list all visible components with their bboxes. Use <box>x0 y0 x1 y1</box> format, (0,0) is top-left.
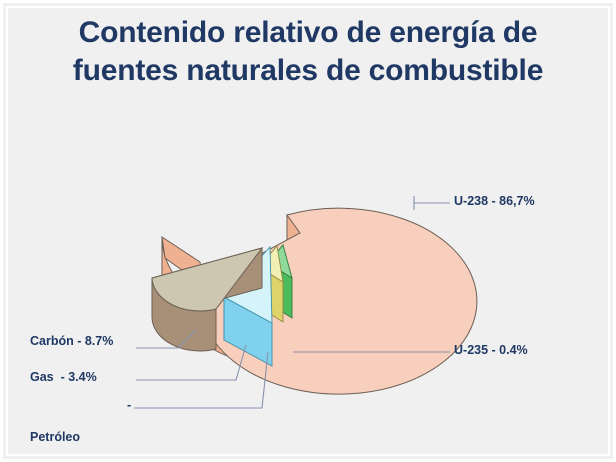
pie-chart-3d <box>0 0 616 462</box>
pie-label-petroleo-dash: - <box>127 397 131 413</box>
pie-label-gas: Gas - 3.4% <box>30 369 97 385</box>
pie-label-petroleo-line-1: Petróleo <box>30 429 80 445</box>
pie-label-u238: U-238 - 86,7% <box>454 193 535 209</box>
leader-line-u238 <box>414 196 450 210</box>
slide-canvas: Contenido relativo de energía de fuentes… <box>0 0 616 462</box>
pie-label-petroleo: Petróleo 0,8% <box>30 397 80 462</box>
pie-label-u235: U-235 - 0.4% <box>454 342 528 358</box>
pie-label-carbon: Carbón - 8.7% <box>30 333 113 349</box>
